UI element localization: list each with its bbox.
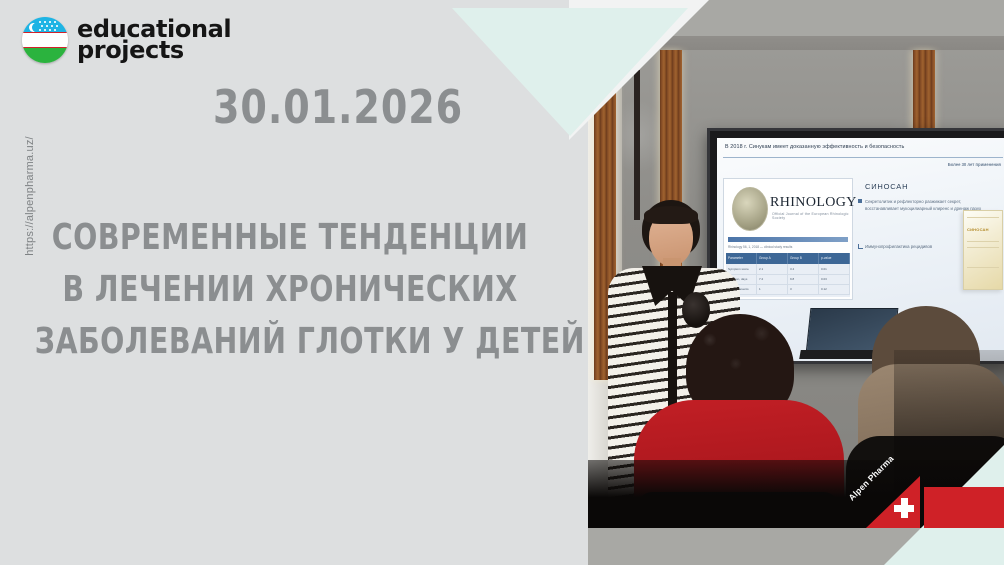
brand-name-line2: projects [77, 40, 231, 61]
stars-icon [39, 21, 61, 33]
journal-card: RHINOLOGY Official Journal of the Europe… [723, 178, 853, 300]
event-date: 30.01.2026 [213, 80, 463, 134]
table-cell: 0.01 [819, 264, 850, 274]
sponsor-logo[interactable]: Alpen Pharma [866, 476, 1004, 528]
table-cell: 0.12 [819, 284, 850, 294]
product-package-image: СИНОСАН [963, 210, 1003, 290]
table-cell: 9.8 [788, 274, 819, 284]
table-cell: 2.1 [757, 264, 788, 274]
swiss-cross-icon [894, 498, 914, 518]
table-cell: 1 [757, 284, 788, 294]
table-col-header: Group B [788, 253, 819, 264]
journal-title: RHINOLOGY [770, 195, 857, 211]
bullet-marker-icon [858, 244, 863, 249]
uzbekistan-flag-circle-icon [22, 17, 68, 63]
table-col-header: Group A [757, 253, 788, 264]
table-cell: 7.2 [757, 274, 788, 284]
table-cell: 3 [788, 284, 819, 294]
bullet-marker-icon [858, 199, 862, 203]
table-cell: 3.4 [788, 264, 819, 274]
page-title: СОВРЕМЕННЫЕ ТЕНДЕНЦИИ В ЛЕЧЕНИИ ХРОНИЧЕС… [0, 212, 580, 368]
journal-subtitle: Official Journal of the European Rhinolo… [772, 212, 852, 220]
table-cell: 0.03 [819, 274, 850, 284]
table-header-row: Parameter Group A Group B p-value [726, 253, 850, 264]
journal-masthead: RHINOLOGY Official Journal of the Europe… [724, 179, 852, 237]
title-line-3: ЗАБОЛЕВАНИЙ ГЛОТКИ У ДЕТЕЙ [35, 316, 545, 368]
title-line-2: В ЛЕЧЕНИИ ХРОНИЧЕСКИХ [35, 264, 545, 316]
journal-navbar [728, 237, 848, 242]
mint-triangle-top [452, 8, 688, 136]
slide-header-rule [723, 157, 1003, 158]
title-line-1: СОВРЕМЕННЫЕ ТЕНДЕНЦИИ [35, 212, 545, 264]
slide-header-text: В 2018 г. Синукам имеет доказанную эффек… [725, 144, 1004, 150]
brand-logo[interactable]: educational projects [22, 17, 231, 63]
journal-caption: Rhinology 56, 1, 2018 — clinical study r… [728, 245, 848, 250]
crescent-moon-icon [29, 23, 38, 32]
product-name: СИНОСАН [865, 182, 908, 191]
sponsor-bar [924, 487, 1004, 528]
speaker-bangs [644, 206, 698, 224]
presentation-slide: В 2018 г. Синукам имеет доказанную эффек… [0, 0, 1004, 565]
slide-subheader-text: Более 30 лет применения [948, 162, 1001, 167]
bullet-text: Иммунопрофилактика рецидивов [865, 244, 932, 249]
journal-table: Parameter Group A Group B p-value Sympto… [726, 253, 850, 297]
package-label: СИНОСАН [967, 227, 989, 232]
brand-name: educational projects [77, 19, 231, 61]
table-row: Adverse events 1 3 0.12 [726, 284, 850, 295]
table-col-header: p-value [819, 253, 850, 264]
